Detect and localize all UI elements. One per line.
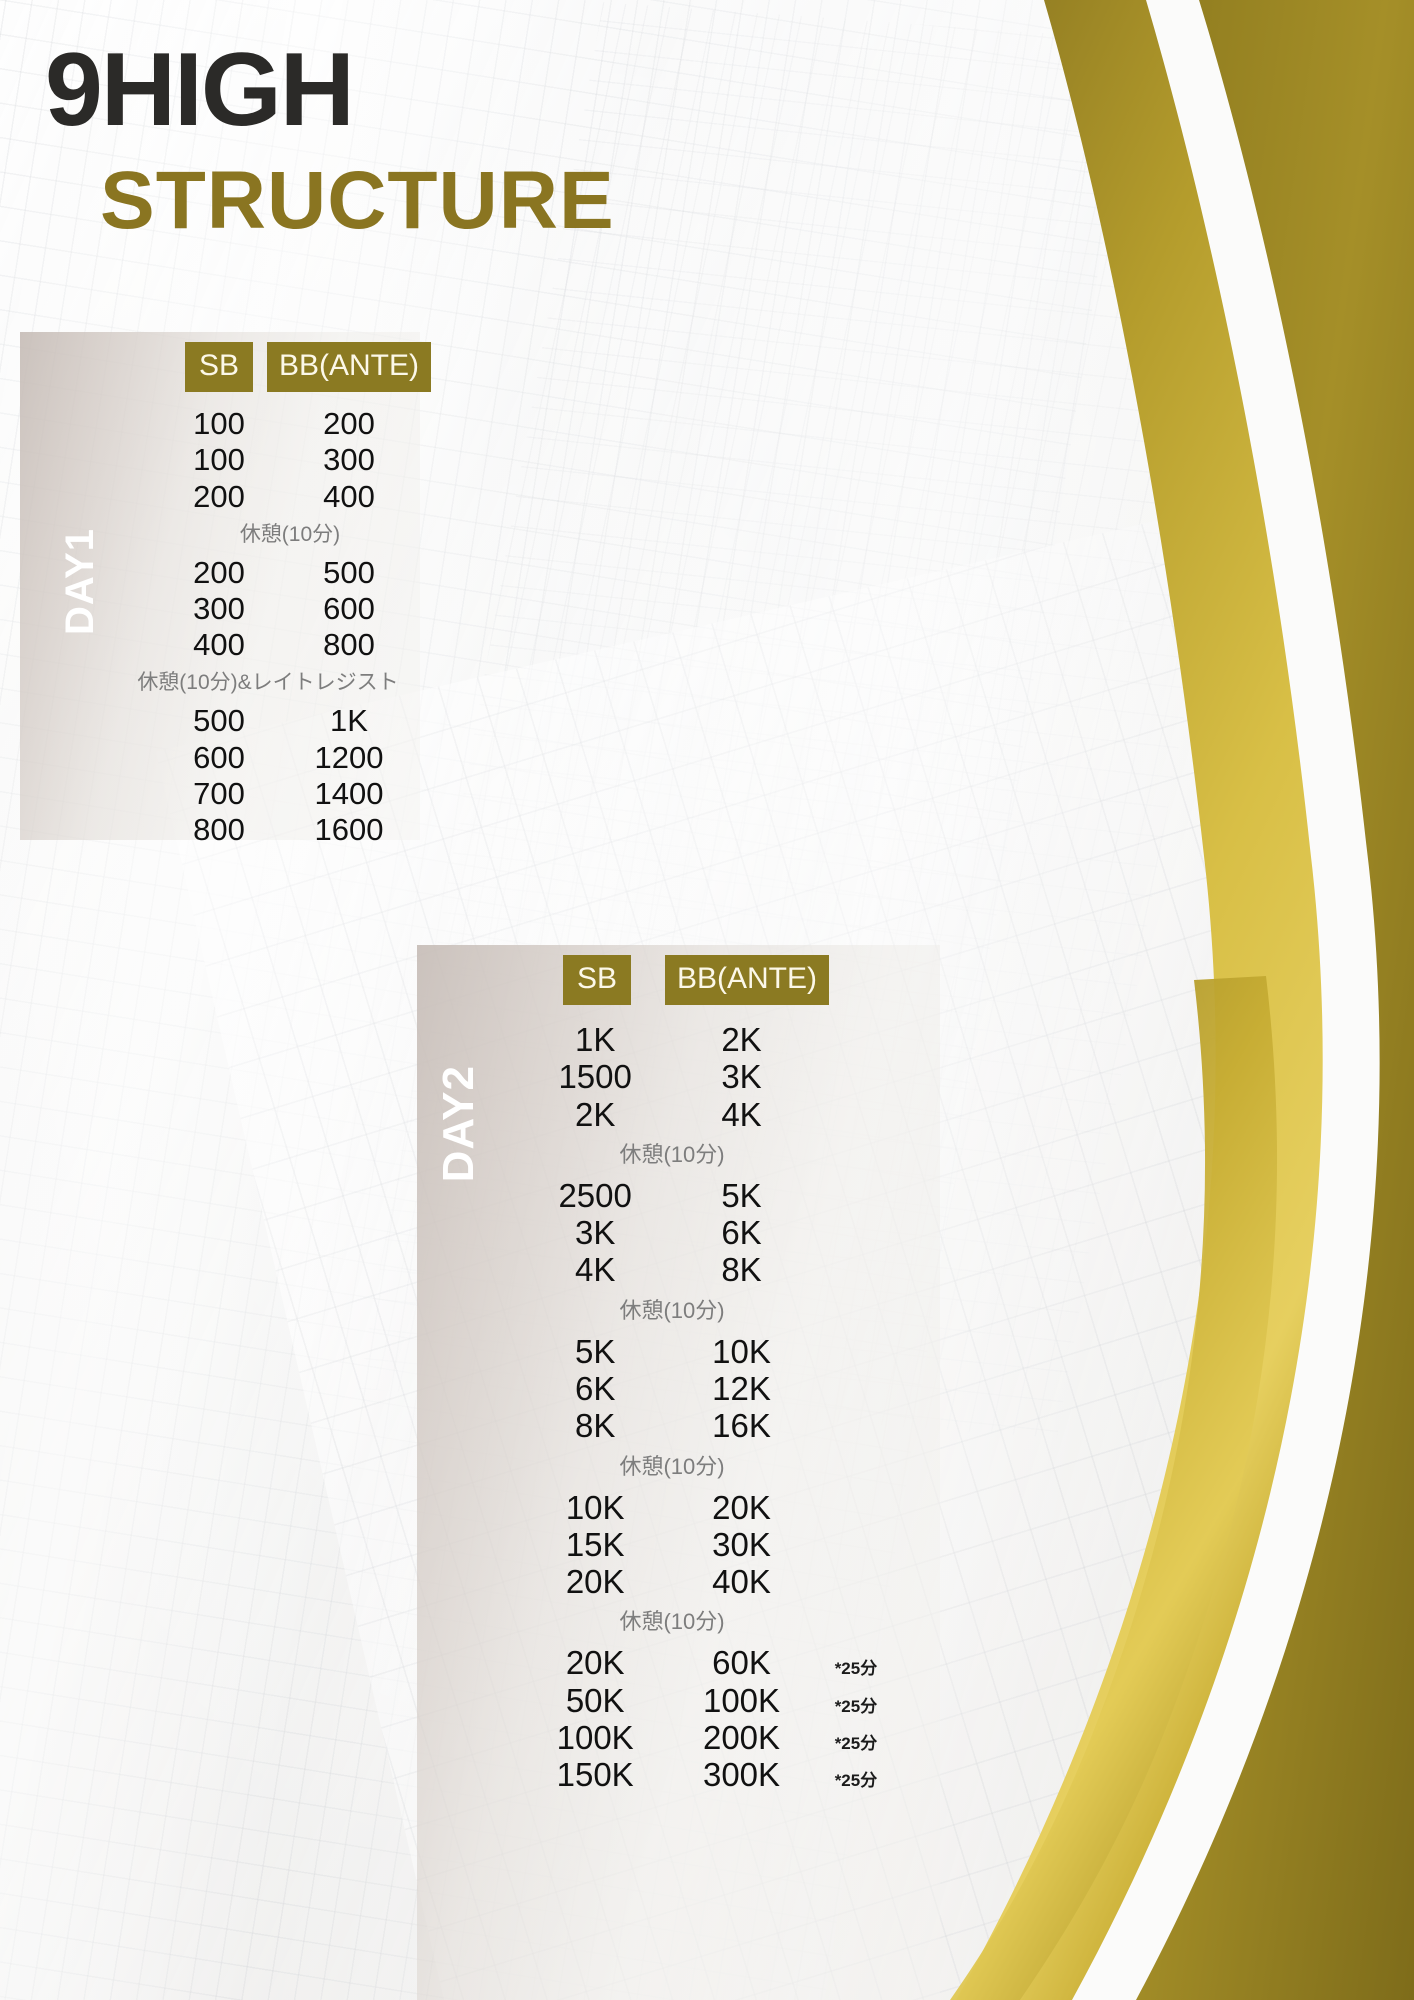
level-row: 25005K <box>522 1177 942 1214</box>
level-sb-value: 2500 <box>522 1177 668 1214</box>
level-bb-value: 10K <box>668 1333 814 1370</box>
level-bb-value: 2K <box>668 1021 814 1058</box>
level-sb-value: 1500 <box>522 1058 668 1095</box>
level-bb-value: 5K <box>668 1177 814 1214</box>
level-sb-value: 10K <box>522 1489 668 1526</box>
level-row: 200400 <box>160 479 420 515</box>
level-row: 100200 <box>160 406 420 442</box>
level-row: 5K10K <box>522 1333 942 1370</box>
level-bb-value: 8K <box>668 1251 814 1288</box>
level-bb-value: 60K <box>668 1644 814 1681</box>
break-row: 休憩(10分) <box>522 1289 822 1333</box>
poster-canvas: 9HIGH STRUCTURE DAY1 SB BB(ANTE) 1002001… <box>0 0 1414 2000</box>
level-row: 150K300K*25分 <box>522 1756 942 1793</box>
level-row: 4K8K <box>522 1251 942 1288</box>
day2-header-row: SB BB(ANTE) <box>522 955 942 1005</box>
level-row: 7001400 <box>160 776 420 812</box>
level-row: 100300 <box>160 442 420 478</box>
level-bb-value: 16K <box>668 1407 814 1444</box>
level-bb-value: 1600 <box>278 812 420 848</box>
level-row: 20K60K*25分 <box>522 1644 942 1681</box>
level-sb-value: 15K <box>522 1526 668 1563</box>
level-bb-value: 3K <box>668 1058 814 1095</box>
level-sb-value: 500 <box>160 703 278 739</box>
level-bb-value: 100K <box>668 1682 814 1719</box>
level-row: 10K20K <box>522 1489 942 1526</box>
level-row: 300600 <box>160 591 420 627</box>
level-row: 15K30K <box>522 1526 942 1563</box>
level-bb-value: 12K <box>668 1370 814 1407</box>
level-sb-value: 20K <box>522 1563 668 1600</box>
level-row: 6K12K <box>522 1370 942 1407</box>
level-sb-value: 3K <box>522 1214 668 1251</box>
level-row: 50K100K*25分 <box>522 1682 942 1719</box>
day1-header-bb: BB(ANTE) <box>267 342 431 392</box>
level-bb-value: 500 <box>278 555 420 591</box>
level-row: 8K16K <box>522 1407 942 1444</box>
day1-label: DAY1 <box>58 528 103 635</box>
level-bb-value: 200K <box>668 1719 814 1756</box>
level-bb-value: 600 <box>278 591 420 627</box>
level-duration-note: *25分 <box>815 1697 942 1716</box>
level-bb-value: 20K <box>668 1489 814 1526</box>
day2-header-bb: BB(ANTE) <box>665 955 829 1005</box>
page-subtitle: STRUCTURE <box>100 160 615 242</box>
level-bb-value: 6K <box>668 1214 814 1251</box>
day1-panel: DAY1 SB BB(ANTE) 100200100300200400休憩(10… <box>20 332 420 840</box>
level-bb-value: 300K <box>668 1756 814 1793</box>
level-row: 200500 <box>160 555 420 591</box>
level-sb-value: 200 <box>160 555 278 591</box>
day2-header-sb: SB <box>563 955 631 1005</box>
day1-rows: 100200100300200400休憩(10分)200500300600400… <box>160 406 420 848</box>
level-row: 8001600 <box>160 812 420 848</box>
break-row: 休憩(10分) <box>522 1133 822 1177</box>
level-sb-value: 300 <box>160 591 278 627</box>
level-row: 20K40K <box>522 1563 942 1600</box>
level-bb-value: 800 <box>278 627 420 663</box>
break-row: 休憩(10分) <box>522 1600 822 1644</box>
level-sb-value: 800 <box>160 812 278 848</box>
level-bb-value: 200 <box>278 406 420 442</box>
page-title: 9HIGH <box>45 38 615 142</box>
level-sb-value: 600 <box>160 740 278 776</box>
level-sb-value: 50K <box>522 1682 668 1719</box>
level-bb-value: 300 <box>278 442 420 478</box>
title-block: 9HIGH STRUCTURE <box>45 38 615 242</box>
level-sb-value: 5K <box>522 1333 668 1370</box>
level-sb-value: 6K <box>522 1370 668 1407</box>
day2-panel: DAY2 SB BB(ANTE) 1K2K15003K2K4K休憩(10分)25… <box>417 945 940 2000</box>
level-duration-note: *25分 <box>815 1771 942 1790</box>
level-sb-value: 100K <box>522 1719 668 1756</box>
level-bb-value: 4K <box>668 1096 814 1133</box>
level-row: 1K2K <box>522 1021 942 1058</box>
level-sb-value: 8K <box>522 1407 668 1444</box>
level-row: 6001200 <box>160 740 420 776</box>
level-sb-value: 20K <box>522 1644 668 1681</box>
break-row: 休憩(10分) <box>522 1445 822 1489</box>
day1-header-row: SB BB(ANTE) <box>160 342 420 392</box>
level-row: 100K200K*25分 <box>522 1719 942 1756</box>
day2-label: DAY2 <box>434 1065 484 1182</box>
level-row: 3K6K <box>522 1214 942 1251</box>
level-bb-value: 40K <box>668 1563 814 1600</box>
level-bb-value: 30K <box>668 1526 814 1563</box>
level-bb-value: 1K <box>278 703 420 739</box>
day1-structure-table: SB BB(ANTE) 100200100300200400休憩(10分)200… <box>160 342 420 848</box>
break-row: 休憩(10分)&レイトレジスト <box>128 663 408 703</box>
level-sb-value: 100 <box>160 406 278 442</box>
level-bb-value: 1400 <box>278 776 420 812</box>
level-sb-value: 1K <box>522 1021 668 1058</box>
day2-structure-table: SB BB(ANTE) 1K2K15003K2K4K休憩(10分)25005K3… <box>522 955 942 1794</box>
level-sb-value: 150K <box>522 1756 668 1793</box>
level-bb-value: 1200 <box>278 740 420 776</box>
level-sb-value: 2K <box>522 1096 668 1133</box>
level-row: 2K4K <box>522 1096 942 1133</box>
level-duration-note: *25分 <box>815 1659 942 1678</box>
level-sb-value: 100 <box>160 442 278 478</box>
level-row: 5001K <box>160 703 420 739</box>
level-row: 400800 <box>160 627 420 663</box>
break-row: 休憩(10分) <box>160 515 420 555</box>
level-sb-value: 200 <box>160 479 278 515</box>
level-duration-note: *25分 <box>815 1734 942 1753</box>
level-row: 15003K <box>522 1058 942 1095</box>
day1-header-sb: SB <box>185 342 253 392</box>
level-bb-value: 400 <box>278 479 420 515</box>
level-sb-value: 400 <box>160 627 278 663</box>
level-sb-value: 700 <box>160 776 278 812</box>
level-sb-value: 4K <box>522 1251 668 1288</box>
day2-rows: 1K2K15003K2K4K休憩(10分)25005K3K6K4K8K休憩(10… <box>522 1021 942 1794</box>
